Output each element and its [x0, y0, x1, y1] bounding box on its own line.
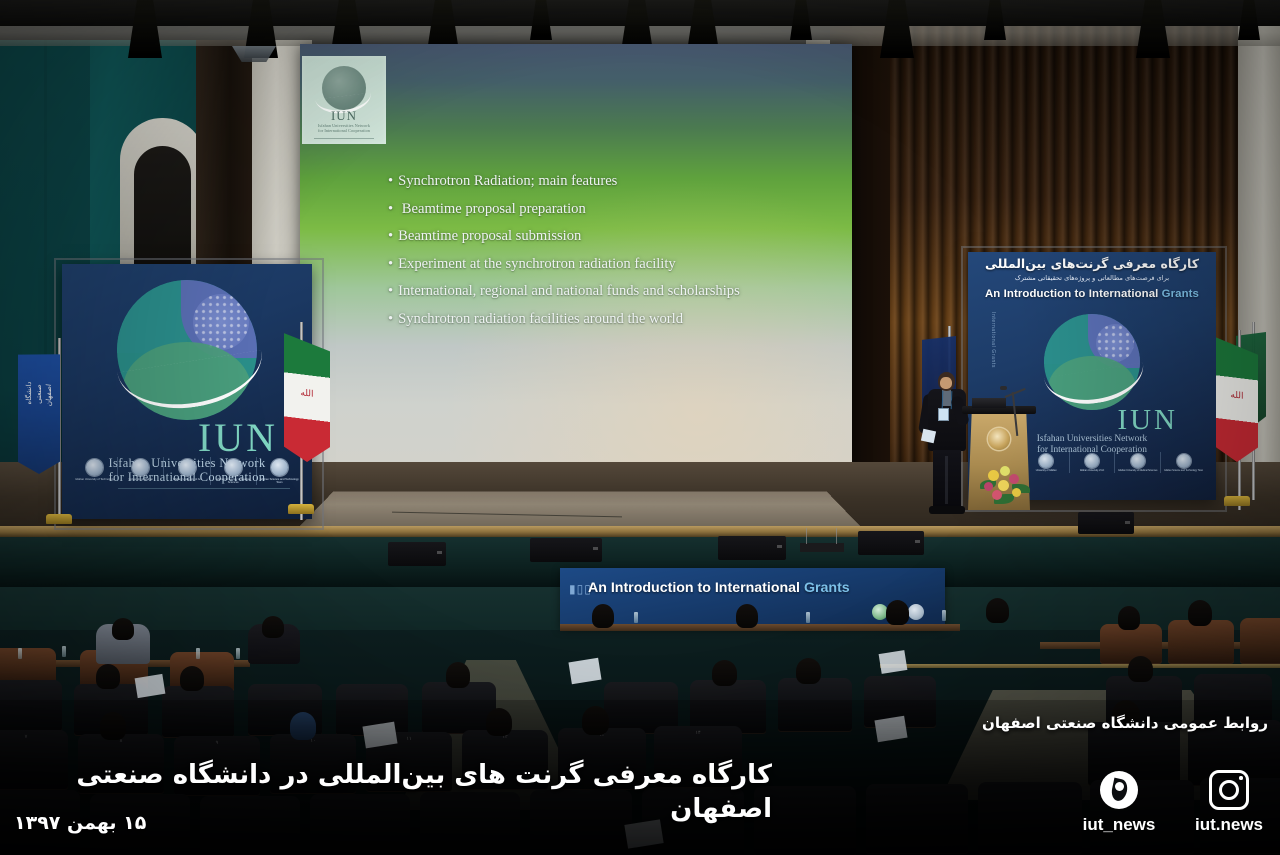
- iran-flag-icon: الله: [1216, 337, 1258, 464]
- chair: ۱۳: [558, 728, 646, 790]
- istt-seal-icon: [271, 459, 288, 476]
- flower-icon: [984, 482, 993, 491]
- partner-logo: Isfahan University of Art: [163, 457, 209, 481]
- social-handles: iut_news iut.news: [1076, 770, 1272, 835]
- bullet-dot-icon: •: [388, 228, 393, 244]
- partner-name: Isfahan Science and Technology Town: [257, 478, 302, 485]
- islamic-pattern-icon: [193, 294, 249, 350]
- social-soroush[interactable]: iut_news: [1076, 770, 1162, 835]
- paper-sheet: [568, 658, 601, 684]
- chair: [200, 796, 300, 855]
- slide-logo-subtitle: Isfahan Universities Network for Interna…: [302, 123, 386, 134]
- instagram-handle[interactable]: iut.news: [1186, 815, 1272, 835]
- attendee-head: [446, 662, 470, 688]
- partner-name: Isfahan University of Art: [1070, 470, 1115, 473]
- partner-logo: Isfahan Science and Technology Town: [256, 457, 302, 485]
- slide-bullet: •Beamtime proposal submission: [388, 223, 842, 251]
- bullet-dot-icon: •: [388, 201, 393, 217]
- speaker-face: [940, 377, 952, 389]
- water-bottle: [236, 648, 240, 659]
- bullet-dot-icon: •: [388, 311, 393, 327]
- slide-bullet-text: Beamtime proposal preparation: [398, 201, 586, 217]
- name-badge: [938, 408, 949, 421]
- water-bottle: [942, 610, 946, 621]
- slide-bullet: •International, regional and national fu…: [388, 278, 842, 306]
- chair: [422, 682, 496, 734]
- attendee-head: [886, 600, 909, 625]
- water-bottle: [196, 648, 200, 659]
- chair: ۱۲: [462, 730, 548, 790]
- divider: [314, 138, 374, 139]
- wireless-receiver: [800, 543, 844, 552]
- attendee-head: [592, 604, 614, 628]
- chair: [978, 782, 1082, 854]
- attendee-head: [290, 712, 316, 740]
- soroush-icon[interactable]: [1099, 770, 1139, 810]
- chair-number: ۷: [0, 734, 68, 740]
- attendee-head: [180, 666, 204, 691]
- hand-rail: [880, 664, 1280, 668]
- chair-number: ۱۰: [270, 738, 356, 744]
- chair: [778, 678, 852, 732]
- flag-base: [288, 504, 314, 514]
- aui-seal-icon: [1085, 454, 1099, 468]
- attendee-head: [736, 604, 758, 628]
- partner-logo: Isfahan University of Medical Sciences: [1114, 452, 1160, 473]
- projection-screen: IUN Isfahan Universities Network for Int…: [300, 44, 852, 464]
- right-banner-title-en: An Introduction to International Grants: [974, 288, 1210, 300]
- ui-seal-icon: [1039, 454, 1053, 468]
- microphone-icon: [1000, 386, 1007, 390]
- title-highlight: Grants: [1162, 288, 1199, 300]
- partner-name: Isfahan University of Medical Sciences: [211, 478, 256, 485]
- slide-logo-acronym: IUN: [302, 108, 386, 124]
- partner-logo: University of Isfahan: [117, 457, 163, 481]
- stage-carpet: [300, 492, 860, 526]
- instagram-icon[interactable]: [1209, 770, 1249, 810]
- partner-name: Isfahan University of Medical Sciences: [1115, 470, 1160, 473]
- stage-monitor: [530, 538, 602, 562]
- projected-slide: IUN Isfahan Universities Network for Int…: [300, 44, 852, 464]
- iut-seal-icon: [86, 459, 103, 476]
- audience-banner-title: An Introduction to International Grants: [588, 580, 925, 596]
- speaker-shoes: [929, 506, 965, 514]
- iun-logo-mark: [117, 280, 257, 420]
- slide-bullet-text: International, regional and national fun…: [398, 283, 740, 299]
- bullet-dot-icon: •: [388, 173, 393, 189]
- flower-icon: [992, 490, 1002, 500]
- chair: [420, 792, 520, 855]
- partner-logo: Isfahan University of Technology: [72, 457, 117, 481]
- photo-date: ۱۵ بهمن ۱۳۹۷: [14, 812, 146, 834]
- slide-logo: IUN Isfahan Universities Network for Int…: [302, 56, 386, 144]
- attendee-head: [712, 660, 737, 686]
- left-banner: IUN Isfahan Universities Network for Int…: [62, 264, 312, 519]
- slide-bullet: • Beamtime proposal preparation: [388, 196, 842, 224]
- university-flag: دانشگاه صنعتی اصفهان: [18, 350, 60, 476]
- stage-monitor: [718, 536, 786, 560]
- title-lead: An Introduction to International: [588, 580, 804, 596]
- stage-monitor: [858, 531, 924, 555]
- attendee-head: [1188, 600, 1212, 626]
- water-bottle: [806, 612, 810, 623]
- chair: [1240, 618, 1280, 664]
- stage-monitor: [1078, 512, 1134, 534]
- slide-bullet-text: Beamtime proposal submission: [398, 228, 581, 244]
- paper-sheet: [874, 716, 907, 742]
- iut-emblem-icon: [988, 428, 1010, 450]
- attendee-head: [582, 706, 609, 735]
- iran-emblem-icon: الله: [1230, 390, 1243, 402]
- slide-bullet: •Synchrotron radiation facilities around…: [388, 306, 842, 334]
- head-table: [560, 624, 960, 631]
- photo-credit: روابط عمومی دانشگاه صنعتی اصفهان: [982, 714, 1268, 732]
- water-bottle: [634, 612, 638, 623]
- flag-base: [46, 514, 72, 524]
- iran-flag-icon: الله: [284, 333, 330, 465]
- attendee-head: [1128, 656, 1153, 682]
- bullet-dot-icon: •: [388, 283, 393, 299]
- partner-name: Isfahan Science and Technology Town: [1161, 470, 1206, 473]
- partner-logo: Isfahan University of Medical Sciences: [210, 457, 256, 485]
- partner-name: Isfahan University of Art: [164, 478, 209, 481]
- left-banner-acronym: IUN: [62, 414, 312, 461]
- chair: ۹: [174, 736, 260, 796]
- partner-name: Isfahan University of Technology: [72, 478, 117, 481]
- chair: [754, 786, 856, 855]
- flag-base: [1224, 496, 1250, 506]
- stage-monitor: [388, 542, 446, 566]
- chair-number: ۱۴: [654, 730, 742, 736]
- right-banner-subtitle-fa: برای فرصت‌های مطالعاتی و پروژه‌های تحقیق…: [974, 274, 1210, 283]
- right-banner-title-fa: کارگاه معرفی گرنت‌های بین‌المللی: [974, 256, 1210, 271]
- chair: ۸: [78, 734, 164, 794]
- chair: [0, 680, 62, 732]
- slide-bullet-list: •Synchrotron Radiation; main features • …: [388, 168, 842, 333]
- ui-seal-icon: [132, 459, 149, 476]
- iun-logo-mark: [1044, 314, 1140, 410]
- flower-icon: [998, 480, 1009, 491]
- handheld-paper: [921, 429, 936, 443]
- attendee-head: [112, 618, 134, 640]
- chair: [866, 784, 968, 854]
- title-highlight: Grants: [804, 580, 850, 596]
- slide-bullet-text: Synchrotron Radiation; main features: [398, 173, 617, 189]
- slide-bullet-text: Synchrotron radiation facilities around …: [398, 311, 683, 327]
- slide-logo-sub1: Isfahan Universities Network: [318, 123, 370, 128]
- chair: [162, 686, 234, 738]
- partner-name: University of Isfahan: [118, 478, 163, 481]
- chair: [310, 794, 410, 855]
- partner-logos-strip: Isfahan University of Technology Univers…: [72, 457, 302, 507]
- flower-arrangement: [978, 464, 1032, 506]
- attendee-head: [1118, 606, 1140, 630]
- speaker-legs: [933, 450, 961, 508]
- speaker-person: [926, 372, 970, 518]
- paper-sheet: [879, 650, 908, 674]
- social-instagram[interactable]: iut.news: [1186, 770, 1272, 835]
- laptop: [972, 398, 1006, 408]
- chair: [1100, 624, 1162, 664]
- flower-icon: [1000, 466, 1010, 476]
- chair: ۱۴: [654, 726, 742, 788]
- istt-seal-icon: [1177, 454, 1191, 468]
- partner-logo: Isfahan Science and Technology Town: [1160, 452, 1206, 473]
- bullet-dot-icon: •: [388, 256, 393, 272]
- partner-logo: Isfahan University of Art: [1069, 452, 1115, 473]
- slide-logo-sub2: for International Cooperation: [318, 128, 370, 133]
- chair: ۱۰: [270, 734, 356, 794]
- conference-photo: IUN Isfahan Universities Network for Int…: [0, 0, 1280, 855]
- water-bottle: [18, 648, 22, 659]
- chair-number: ۹: [174, 740, 260, 746]
- flower-icon: [988, 470, 999, 481]
- slide-bullet: •Synchrotron Radiation; main features: [388, 168, 842, 196]
- mui-seal-icon: [1131, 454, 1145, 468]
- chair: [1168, 620, 1234, 664]
- iran-emblem-icon: الله: [300, 388, 313, 400]
- title-lead: An Introduction to International: [985, 288, 1162, 300]
- attendee-head: [96, 664, 120, 689]
- right-banner-side-text: International Grants: [990, 312, 996, 368]
- antenna-icon: [836, 528, 837, 544]
- attendee-head: [486, 708, 512, 736]
- water-bottle: [62, 646, 66, 657]
- university-flag-text: دانشگاه صنعتی اصفهان: [24, 371, 54, 416]
- attendee-head: [986, 598, 1009, 623]
- attendee-head: [796, 658, 821, 684]
- flower-icon: [1012, 488, 1021, 497]
- chair: ۷: [0, 730, 68, 790]
- slide-bullet-text: Experiment at the synchrotron radiation …: [398, 256, 676, 272]
- mui-seal-icon: [225, 459, 242, 476]
- attendee-head: [100, 712, 126, 740]
- iut-seal-icon: [908, 604, 924, 620]
- aui-seal-icon: [179, 459, 196, 476]
- soroush-handle[interactable]: iut_news: [1076, 815, 1162, 835]
- attendee-head: [262, 616, 284, 638]
- chair: [530, 790, 632, 855]
- antenna-icon: [806, 528, 807, 544]
- flower-icon: [1009, 474, 1019, 484]
- slide-bullet: •Experiment at the synchrotron radiation…: [388, 251, 842, 279]
